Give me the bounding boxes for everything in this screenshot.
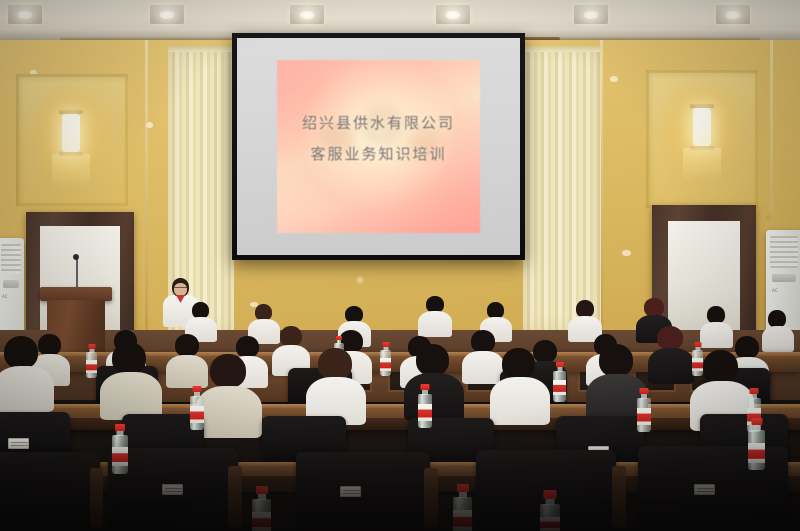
chair-asset-tag [162, 484, 183, 495]
water-bottle[interactable] [553, 362, 566, 402]
projection-screen: 绍兴县供水有限公司 客服业务知识培训 [232, 33, 525, 260]
conference-room-photo: 绍兴县供水有限公司 客服业务知识培训 AC AC [0, 0, 800, 531]
chair[interactable] [296, 452, 430, 531]
curtain-right [523, 46, 601, 331]
wall-panel-seam [145, 40, 148, 340]
wall-sconce-left-icon [58, 110, 84, 156]
slide-title-line-1: 绍兴县供水有限公司 [277, 112, 481, 133]
ceiling-downlight-icon [8, 5, 42, 24]
water-bottle[interactable] [418, 384, 432, 428]
chair[interactable] [0, 452, 100, 531]
microphone-stem [76, 258, 78, 288]
chair-arm [228, 466, 242, 528]
water-bottle[interactable] [540, 490, 560, 531]
chair-arm [612, 466, 626, 528]
chair-arm [424, 468, 438, 528]
lectern-top [40, 287, 112, 301]
chair-arm [90, 468, 103, 528]
ceiling-downlight-icon [716, 5, 750, 24]
ceiling-downlight-icon [574, 5, 608, 24]
wall-sconce-right-icon [689, 104, 715, 150]
chair-asset-tag [340, 486, 361, 497]
ceiling-downlight-icon [436, 5, 470, 24]
chair-asset-tag [8, 438, 29, 449]
water-bottle[interactable] [637, 388, 651, 432]
water-bottle[interactable] [692, 342, 703, 376]
presenter-glasses-icon [174, 287, 187, 290]
microphone-icon [73, 254, 79, 260]
chair[interactable] [638, 446, 788, 531]
chair-asset-tag [694, 484, 715, 495]
water-bottle[interactable] [380, 342, 391, 376]
slide-title-line-2: 客服业务知识培训 [277, 143, 481, 164]
ceiling-downlight-icon [150, 5, 184, 24]
projected-slide: 绍兴县供水有限公司 客服业务知识培训 [277, 60, 481, 234]
water-bottle[interactable] [748, 418, 765, 470]
screen-surface: 绍兴县供水有限公司 客服业务知识培训 [237, 38, 520, 255]
water-bottle[interactable] [112, 424, 128, 474]
door-right-leaf[interactable] [668, 221, 740, 340]
water-bottle[interactable] [453, 484, 472, 531]
water-bottle[interactable] [190, 386, 204, 430]
ceiling-downlight-icon [290, 5, 324, 24]
water-bottle[interactable] [86, 344, 97, 378]
water-bottle[interactable] [252, 486, 271, 531]
